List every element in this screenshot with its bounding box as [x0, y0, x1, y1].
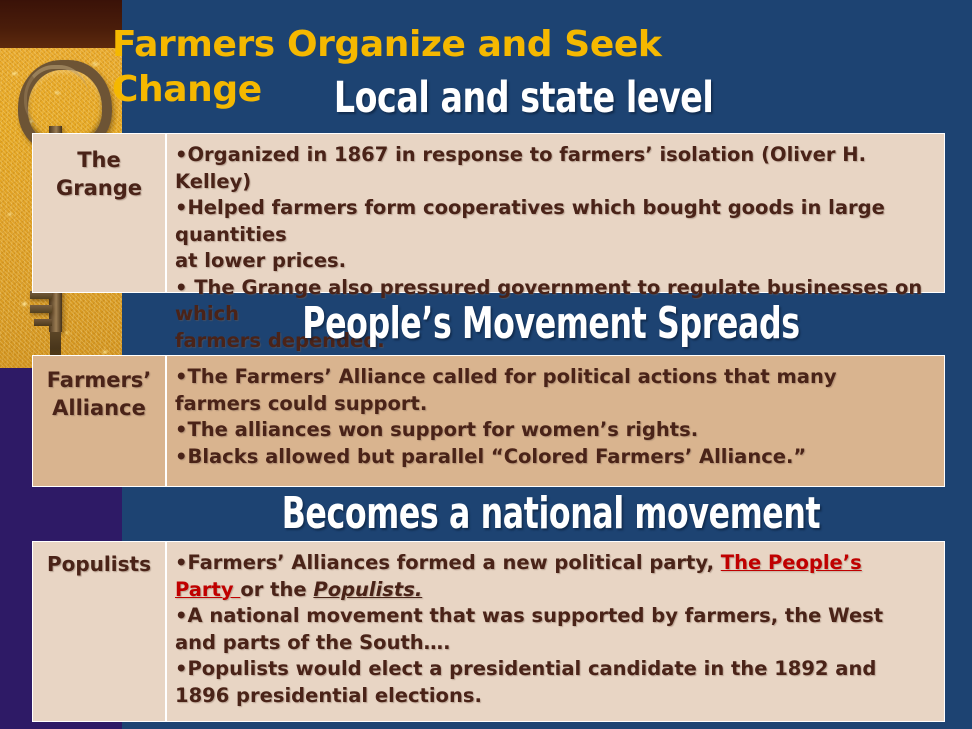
list-item: 1896 presidential elections.: [175, 683, 938, 710]
list-item-text: •Farmers’ Alliances formed a new politic…: [175, 551, 721, 574]
list-item: •Farmers’ Alliances formed a new politic…: [175, 550, 938, 577]
highlight-populists: Populists.: [313, 578, 422, 601]
strip-top-band: [0, 0, 122, 48]
list-item-text: or the: [240, 578, 313, 601]
table-populists: Populists •Farmers’ Alliances formed a n…: [32, 541, 945, 722]
list-item: and parts of the South….: [175, 630, 938, 657]
list-item: •The alliances won support for women’s r…: [175, 417, 938, 444]
key-bow-highlight: [24, 65, 89, 129]
table-grange-label: The Grange: [33, 134, 167, 292]
highlight-peoples-party: The People’s: [721, 551, 862, 574]
list-item: •Helped farmers form cooperatives which …: [175, 195, 938, 248]
table-populists-label: Populists: [33, 542, 167, 721]
list-item: •Organized in 1867 in response to farmer…: [175, 142, 938, 195]
highlight-party: Party: [175, 578, 240, 601]
section-heading-local: Local and state level: [300, 74, 747, 122]
key-ward-icon: [30, 305, 52, 313]
list-item: Party or the Populists.: [175, 577, 938, 604]
table-populists-body: •Farmers’ Alliances formed a new politic…: [167, 542, 944, 721]
table-alliance-body: •The Farmers’ Alliance called for politi…: [167, 356, 944, 486]
section-heading-national-movement: Becomes a national movement: [214, 488, 888, 540]
table-alliance-label: Farmers’ Alliance: [33, 356, 167, 486]
list-item: •Populists would elect a presidential ca…: [175, 656, 938, 683]
bottom-edge-strip: [0, 722, 972, 729]
section-heading-peoples-movement: People’s Movement Spreads: [214, 298, 888, 350]
table-grange-body: •Organized in 1867 in response to farmer…: [167, 134, 944, 292]
key-ward-icon: [34, 319, 52, 326]
list-item: •The Farmers’ Alliance called for politi…: [175, 364, 938, 391]
list-item: •Blacks allowed but parallel “Colored Fa…: [175, 444, 938, 471]
table-grange: The Grange •Organized in 1867 in respons…: [32, 133, 945, 293]
bottom-edge-strip-left: [0, 722, 122, 729]
list-item: •A national movement that was supported …: [175, 603, 938, 630]
presentation-slide: Farmers Organize and Seek Change Local a…: [0, 0, 972, 729]
table-farmers-alliance: Farmers’ Alliance •The Farmers’ Alliance…: [32, 355, 945, 487]
list-item: farmers could support.: [175, 391, 938, 418]
list-item: at lower prices.: [175, 248, 938, 275]
